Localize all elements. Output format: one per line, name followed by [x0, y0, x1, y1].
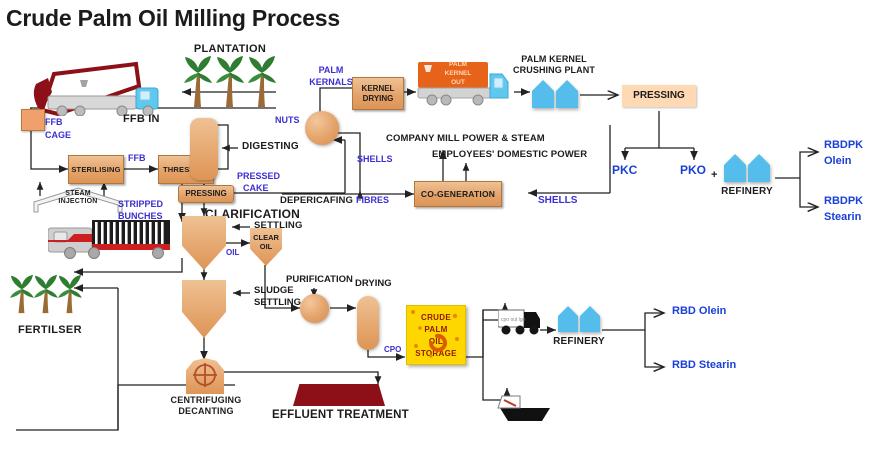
centrifuging-label: CENTRIFUGING: [158, 396, 254, 405]
depericarper-unit[interactable]: [305, 111, 339, 145]
cogeneration-label: CO-GENERATION: [421, 190, 495, 199]
sludge-settling-label-line1: SLUDGE: [254, 286, 294, 296]
svg-text:cpo out lge: cpo out lge: [501, 317, 526, 323]
tanker-truck-icon: cpo out lge: [498, 308, 544, 338]
nuts-label: NUTS: [275, 116, 300, 125]
purification-label: PURIFICATION: [286, 275, 353, 285]
rbdpk-olein-label-line1: RBDPK: [824, 140, 863, 152]
clarification-tank[interactable]: [182, 216, 226, 270]
kernel-drying-label-line2: DRYING: [363, 95, 394, 103]
company-mill-power-label: COMPANY MILL POWER & STEAM: [386, 134, 545, 144]
oil-droplets-icon: [407, 306, 465, 364]
pressing-kernel-box[interactable]: PRESSING: [622, 85, 696, 107]
tipper-truck-icon: [18, 56, 168, 116]
palm-kernals-label-line1: PALM: [304, 66, 358, 75]
digesting-label: DIGESTING: [242, 142, 299, 153]
ffb-cage-icon: [21, 109, 45, 131]
page-title: Crude Palm Oil Milling Process: [6, 5, 340, 32]
fertilser-label: FERTILSER: [18, 325, 82, 337]
sterilising-box[interactable]: STERILISING: [68, 155, 124, 184]
palm-tree-icon: [180, 55, 282, 110]
rbd-stearin-label: RBD Stearin: [672, 360, 736, 372]
ffb-cage-label-line2: CAGE: [45, 131, 71, 140]
clear-oil-label-line1: CLEAR: [250, 234, 282, 242]
cpo-flow-label: CPO: [384, 346, 401, 354]
palm-kernel-out-label-line2: KERNEL: [430, 71, 486, 78]
pkc-label: PKC: [612, 164, 637, 177]
sludge-settling-label-line2: SETTLING: [254, 298, 301, 308]
effluent-treatment-label: EFFLUENT TREATMENT: [272, 409, 409, 421]
kernel-drying-label-line1: KERNEL: [362, 85, 395, 93]
depericafing-label: DEPERICAFING: [280, 196, 353, 206]
fibres-label: FIBRES: [356, 196, 389, 205]
shells-left-label: SHELLS: [357, 155, 393, 164]
ffb-cage-label-line1: FFB: [45, 118, 63, 127]
silo-icon: [722, 152, 772, 184]
pressing-kernel-label: PRESSING: [633, 91, 685, 101]
digester-vessel[interactable]: [190, 118, 218, 180]
cage-truck-icon: [48, 218, 176, 262]
silo-icon: [556, 304, 602, 334]
kernel-drying-box[interactable]: KERNEL DRYING: [352, 77, 404, 110]
palm-kernel-crushing-label-line1: PALM KERNEL: [498, 55, 610, 64]
pressed-cake-label-line1: PRESSED: [237, 172, 280, 181]
rbdpk-stearin-label-line2: Stearin: [824, 212, 861, 224]
steam-injection-label-line1: STEAM: [34, 190, 122, 197]
centrifuge-icon: [192, 362, 218, 388]
ffb-flow-label: FFB: [128, 154, 146, 163]
silo-icon: [530, 78, 580, 110]
palm-kernel-crushing-label-line2: CRUSHING PLANT: [498, 66, 610, 75]
ffb-in-label: FFB IN: [123, 114, 160, 126]
steam-injection-label-line2: INJECTION: [34, 198, 122, 205]
plus-sign: +: [711, 170, 717, 182]
pressing-fruit-label: PRESSING: [185, 190, 226, 198]
stripped-bunches-label-line1: STRIPPED: [118, 200, 163, 209]
sludge-settling-tank[interactable]: [182, 280, 226, 338]
rbdpk-olein-label-line2: Olein: [824, 156, 852, 168]
oil-flow-label: OIL: [226, 249, 239, 257]
employees-power-label: EMPLOYEES' DOMESTIC POWER: [432, 150, 587, 160]
drying-label: DRYING: [355, 279, 392, 289]
cogeneration-box[interactable]: CO-GENERATION: [414, 181, 502, 207]
palm-kernals-label-line2: KERNALS: [304, 78, 358, 87]
decanting-label: DECANTING: [158, 407, 254, 416]
shells-right-label: SHELLS: [538, 196, 577, 207]
pressed-cake-label-line2: CAKE: [243, 184, 269, 193]
refinery-bottom-label: REFINERY: [546, 337, 612, 348]
effluent-pond[interactable]: [293, 384, 385, 406]
pressing-fruit-box[interactable]: PRESSING: [178, 185, 234, 203]
crude-palm-oil-storage[interactable]: CRUDE PALM OIL STORAGE: [406, 305, 466, 365]
refinery-top-label: REFINERY: [712, 187, 782, 198]
palm-kernel-out-label-line1: PALM: [430, 62, 486, 69]
clear-oil-label-line2: OIL: [250, 243, 282, 251]
palm-tree-icon: [8, 272, 86, 320]
drying-vessel[interactable]: [357, 296, 379, 350]
ship-icon: [494, 390, 556, 424]
rbdpk-stearin-label-line1: RBDPK: [824, 196, 863, 208]
sterilising-label: STERILISING: [71, 166, 120, 174]
palm-oil-process-diagram: Crude Palm Oil Milling Process: [0, 0, 871, 465]
purification-unit[interactable]: [300, 294, 329, 323]
palm-kernel-out-label-line3: OUT: [430, 80, 486, 87]
rbd-olein-label: RBD Olein: [672, 306, 726, 318]
pko-label: PKO: [680, 164, 706, 177]
plantation-label: PLANTATION: [182, 44, 278, 56]
